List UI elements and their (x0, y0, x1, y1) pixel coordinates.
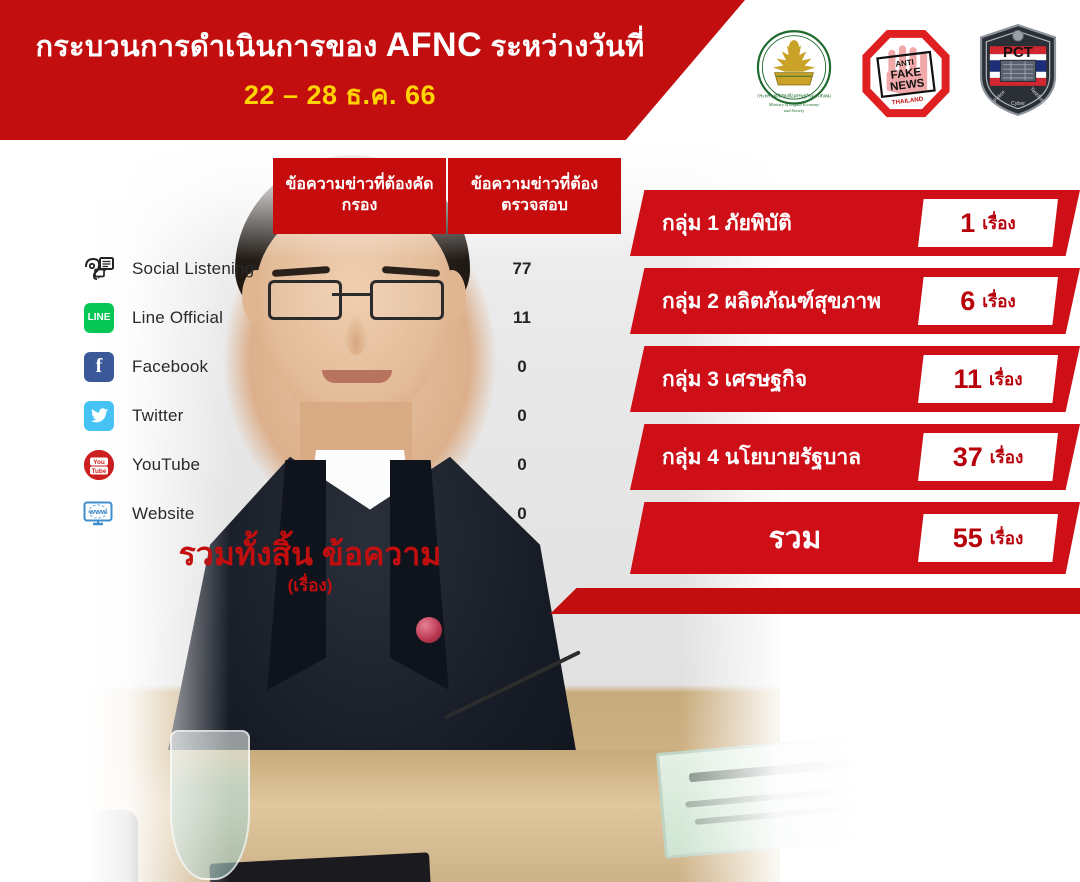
facebook-icon: f (56, 352, 114, 382)
table-row: f Facebook 0 (0, 342, 620, 391)
svg-text:Tube: Tube (92, 468, 107, 475)
svg-text:Cyber: Cyber (1011, 101, 1025, 107)
category-value: 1 (960, 208, 975, 239)
category-value-box: 37 เรื่อง (918, 433, 1058, 481)
date-range: 22 – 28 ธ.ค. 66 (244, 73, 436, 116)
platform-label: Social Listening (114, 259, 344, 279)
total-value: 55 (953, 523, 983, 554)
table-summary-label: รวมทั้งสิ้น ข้อความ (0, 538, 620, 572)
youtube-icon: You Tube (56, 450, 114, 480)
category-row-3: กลุ่ม 3 เศรษฐกิจ 11 เรื่อง (630, 346, 1080, 412)
svg-text:You: You (93, 459, 105, 466)
category-label: กลุ่ม 3 เศรษฐกิจ (662, 346, 807, 412)
police-cyber-taskforce-logo: PCT Police Cyber Taskforce (974, 20, 1062, 120)
table-row: Social Listening 77 (0, 244, 620, 293)
twitter-icon-glyph (84, 401, 114, 431)
category-value-box: 11 เรื่อง (918, 355, 1058, 403)
category-value-box: 1 เรื่อง (918, 199, 1058, 247)
platform-label: Line Official (114, 308, 344, 328)
category-unit: เรื่อง (982, 210, 1015, 237)
category-label: กลุ่ม 2 ผลิตภัณฑ์สุขภาพ (662, 268, 881, 334)
header-text-block: กระบวนการดำเนินการของ AFNC ระหว่างวันที่… (0, 0, 680, 140)
page-title-thai: กระบวนการดำเนินการของ (36, 31, 378, 63)
verify-value: 11 (462, 308, 582, 328)
page-title: กระบวนการดำเนินการของ AFNC ระหว่างวันที่ (36, 24, 645, 67)
category-row-1: กลุ่ม 1 ภัยพิบัติ 1 เรื่อง (630, 190, 1080, 256)
verify-value: 77 (462, 259, 582, 279)
table-summary-row: รวมทั้งสิ้น ข้อความ (เรื่อง) (0, 538, 620, 599)
table-row: LINE Line Official 11 (0, 293, 620, 342)
decorative-red-bar (550, 588, 1080, 614)
category-unit: เรื่อง (990, 444, 1023, 471)
line-icon-glyph: LINE (84, 303, 114, 333)
total-label: รวม (630, 502, 960, 574)
category-unit: เรื่อง (982, 288, 1015, 315)
ministry-of-digital-economy-and-society-logo: กระทรวงดิจิทัลเพื่อเศรษฐกิจและสังคม Mini… (750, 20, 838, 120)
category-row-4: กลุ่ม 4 นโยบายรัฐบาล 37 เรื่อง (630, 424, 1080, 490)
category-group-panel: กลุ่ม 1 ภัยพิบัติ 1 เรื่อง กลุ่ม 2 ผลิตภ… (630, 190, 1080, 586)
total-unit: เรื่อง (990, 525, 1023, 552)
infographic-page: กระบวนการดำเนินการของ AFNC ระหว่างวันที่… (0, 0, 1080, 882)
svg-text:Ministry of Digital Economy: Ministry of Digital Economy (768, 102, 819, 107)
platform-table: ข้อความข่าวที่ต้องคัดกรอง ข้อความข่าวที่… (0, 140, 620, 600)
category-value-box: 6 เรื่อง (918, 277, 1058, 325)
svg-text:and Society: and Society (784, 108, 804, 113)
category-label: กลุ่ม 4 นโยบายรัฐบาล (662, 424, 861, 490)
verify-value: 0 (462, 504, 582, 524)
logo-group: กระทรวงดิจิทัลเพื่อเศรษฐกิจและสังคม Mini… (732, 14, 1062, 126)
verify-value: 0 (462, 455, 582, 475)
platform-label: Twitter (114, 406, 344, 426)
table-body: Social Listening 77 LINE Line Official 1… (0, 244, 620, 538)
platform-label: YouTube (114, 455, 344, 475)
verify-value: 0 (462, 357, 582, 377)
twitter-icon (56, 401, 114, 431)
total-value-box: 55 เรื่อง (918, 514, 1058, 562)
verify-value: 0 (462, 406, 582, 426)
page-title-acronym: AFNC (386, 26, 482, 64)
table-row: Twitter 0 (0, 391, 620, 440)
facebook-icon-glyph: f (84, 352, 114, 382)
svg-text:PCT: PCT (1003, 44, 1033, 61)
column-header-screened: ข้อความข่าวที่ต้องคัดกรอง (273, 158, 446, 234)
category-row-2: กลุ่ม 2 ผลิตภัณฑ์สุขภาพ 6 เรื่อง (630, 268, 1080, 334)
website-icon: www (56, 500, 114, 528)
category-label: กลุ่ม 1 ภัยพิบัติ (662, 190, 792, 256)
platform-label: Website (114, 504, 344, 524)
line-icon: LINE (56, 303, 114, 333)
table-row: www Website 0 (0, 489, 620, 538)
category-value: 6 (960, 286, 975, 317)
table-row: You Tube YouTube 0 (0, 440, 620, 489)
social-listening-icon (56, 255, 114, 283)
table-header-row: ข้อความข่าวที่ต้องคัดกรอง ข้อความข่าวที่… (273, 158, 621, 234)
photo-microphone-head (416, 617, 442, 643)
category-unit: เรื่อง (989, 366, 1022, 393)
column-header-verify: ข้อความข่าวที่ต้องตรวจสอบ (448, 158, 621, 234)
svg-text:www: www (88, 507, 107, 516)
youtube-icon-glyph: You Tube (84, 450, 114, 480)
platform-label: Facebook (114, 357, 344, 377)
page-title-tail: ระหว่างวันที่ (490, 31, 644, 63)
category-row-total: รวม 55 เรื่อง (630, 502, 1080, 574)
anti-fake-news-thailand-logo: ANTI FAKE NEWS THAILAND (862, 20, 950, 120)
category-value: 11 (954, 364, 983, 395)
table-summary-unit: (เรื่อง) (0, 572, 620, 599)
category-value: 37 (953, 442, 983, 473)
